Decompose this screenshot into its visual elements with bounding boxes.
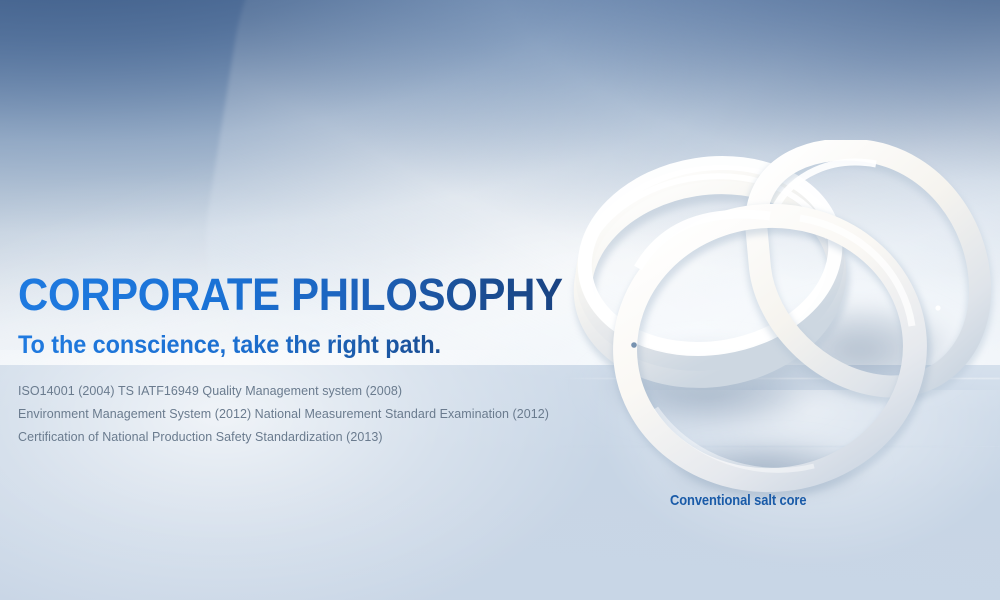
certification-line: ISO14001 (2004) TS IATF16949 Quality Man…	[18, 380, 638, 403]
certification-line: Environment Management System (2012) Nat…	[18, 403, 638, 426]
page-title: CORPORATE PHILOSOPHY	[18, 272, 595, 318]
page-subtitle: To the conscience, take the right path.	[18, 332, 601, 358]
corporate-philosophy-banner: CORPORATE PHILOSOPHY To the conscience, …	[0, 0, 1000, 600]
headline-copy-block: CORPORATE PHILOSOPHY To the conscience, …	[18, 272, 638, 449]
certification-list: ISO14001 (2004) TS IATF16949 Quality Man…	[18, 380, 638, 449]
product-caption: Conventional salt core	[670, 492, 806, 509]
certification-line: Certification of National Production Saf…	[18, 426, 638, 449]
